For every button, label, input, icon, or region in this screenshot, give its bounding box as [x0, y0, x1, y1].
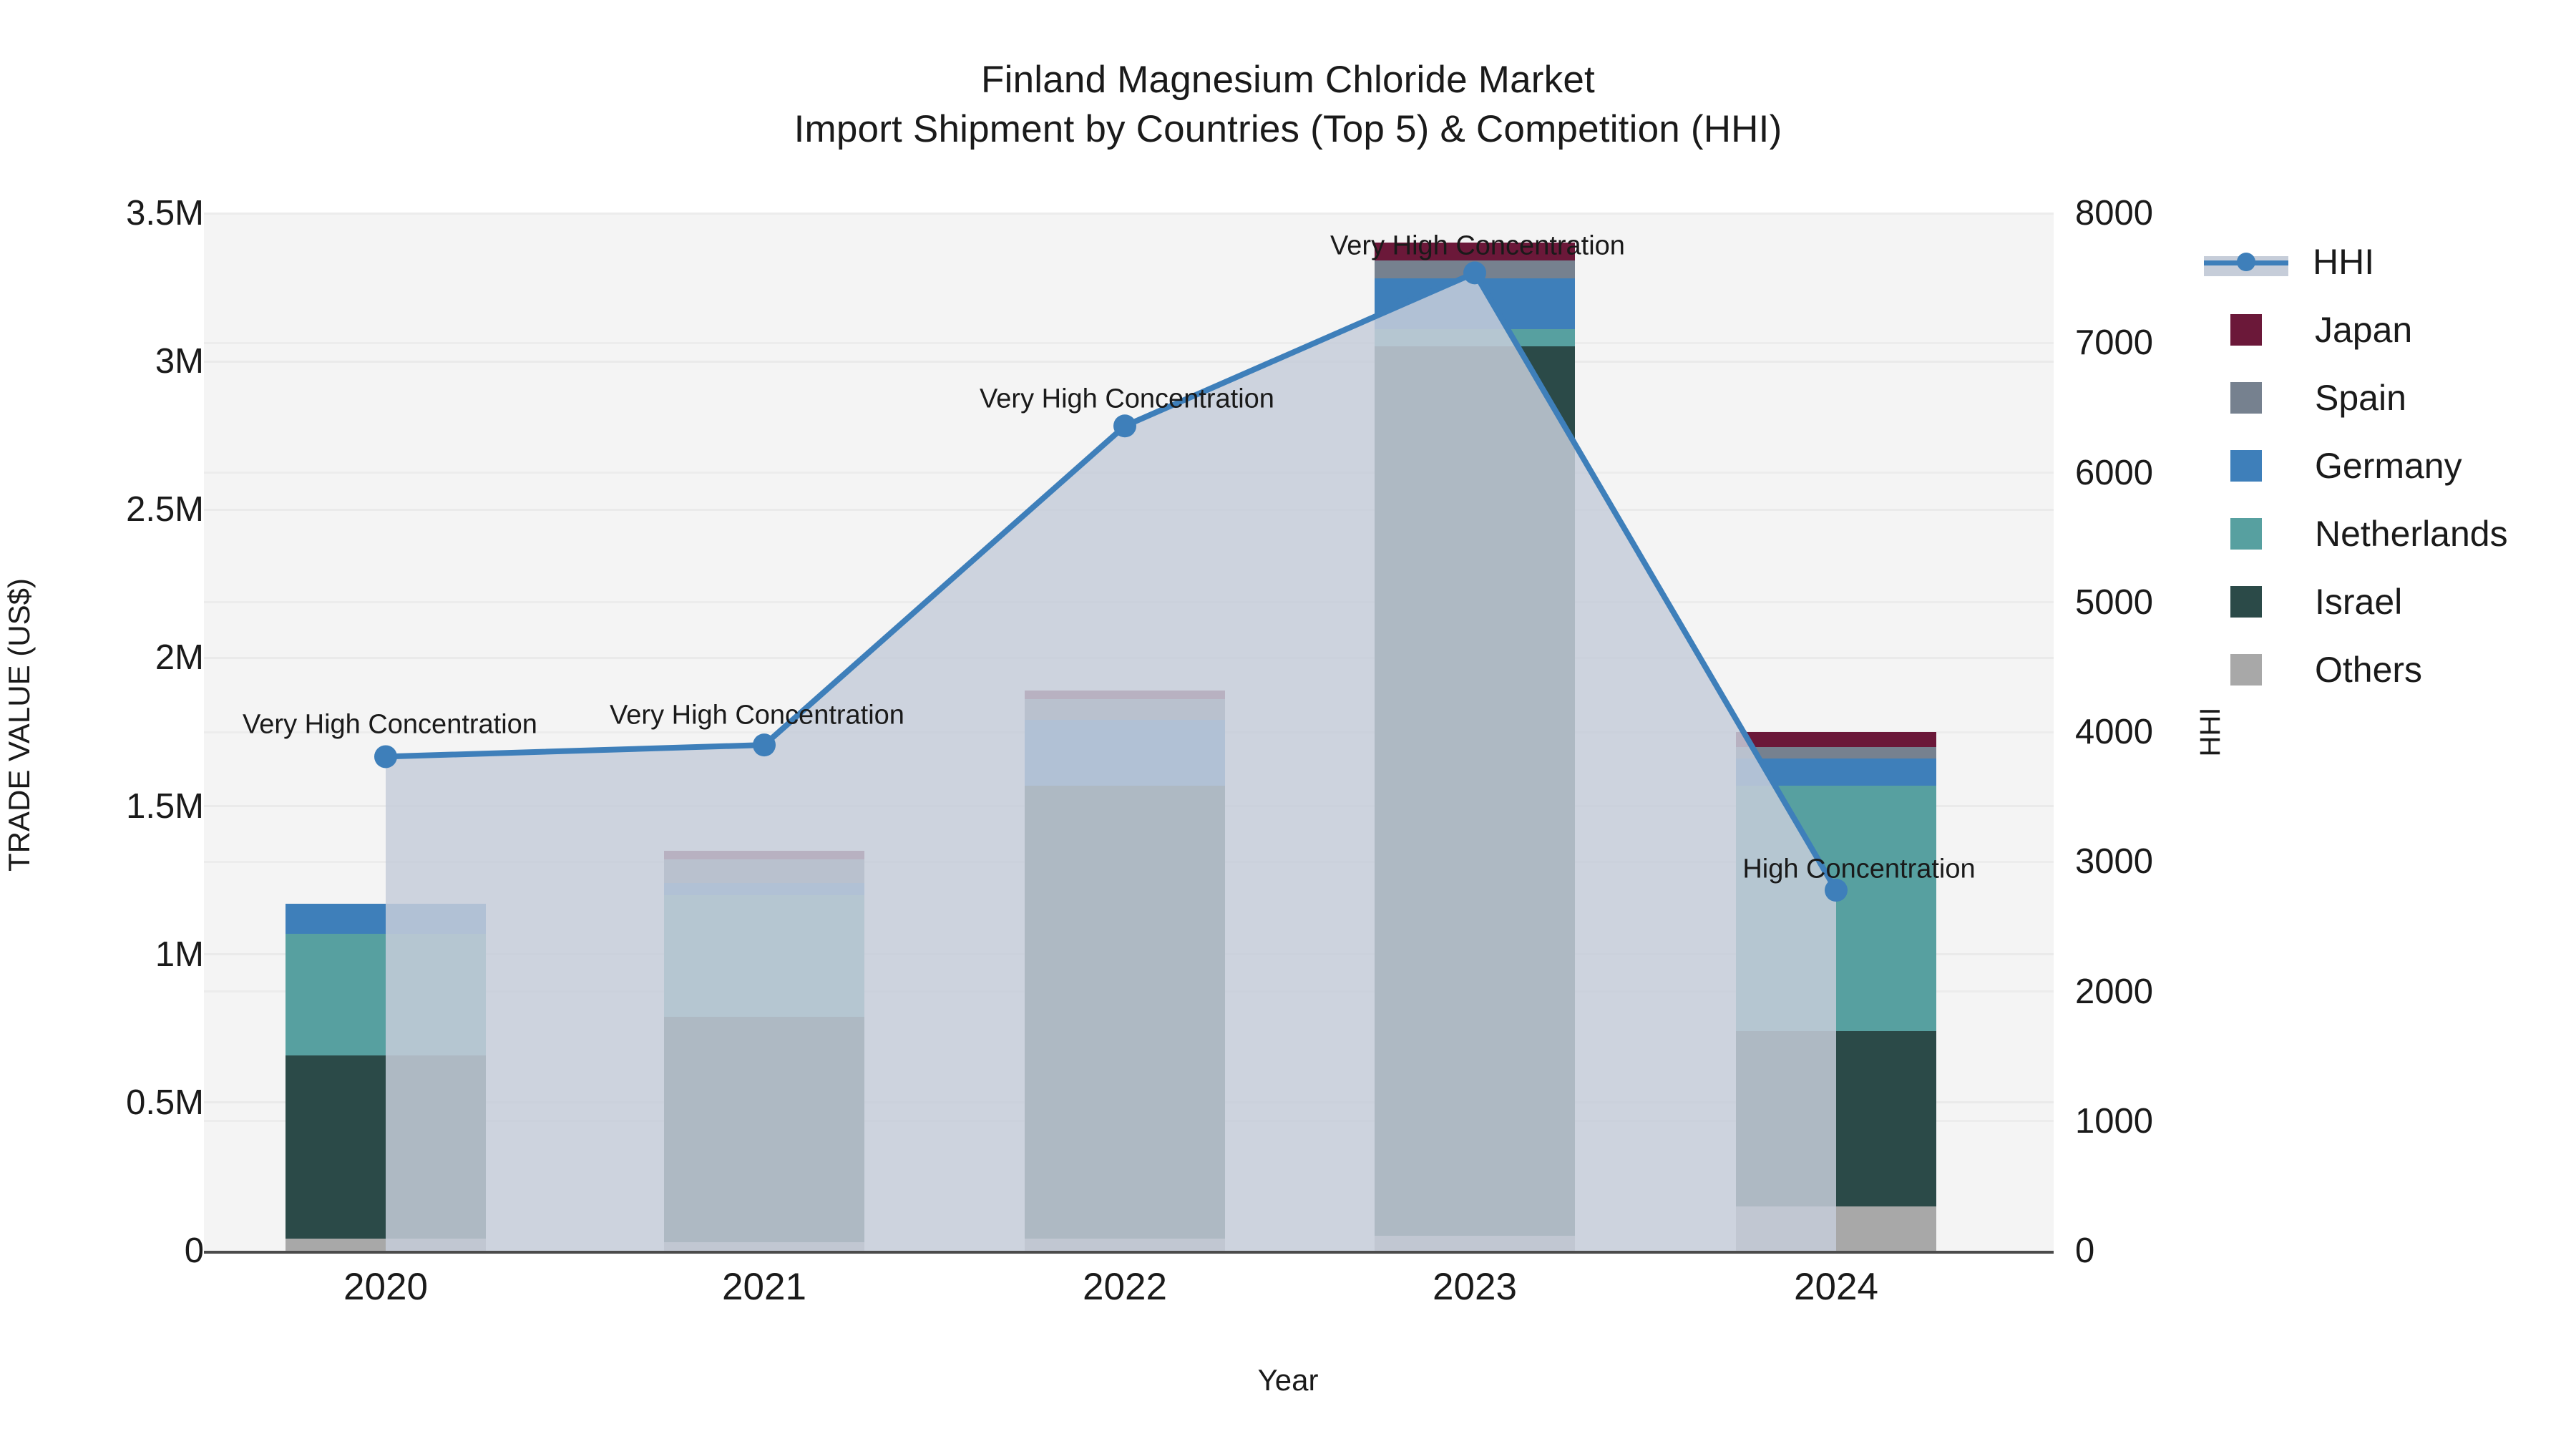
y-tick-right: 4000	[2075, 712, 2290, 752]
y-tick-left: 3M	[0, 341, 204, 381]
chart-title-line-2: Import Shipment by Countries (Top 5) & C…	[0, 105, 2576, 155]
x-tick-2024: 2024	[1707, 1265, 1965, 1309]
legend-label-japan: Japan	[2315, 309, 2412, 351]
gridline	[204, 509, 2054, 511]
bar-segment-netherlands[interactable]	[664, 895, 864, 1017]
x-tick-2020: 2020	[257, 1265, 514, 1309]
legend-swatch-spain	[2230, 382, 2262, 414]
y-tick-left: 1M	[0, 935, 204, 975]
gridline-secondary	[204, 472, 2054, 474]
bar-stack[interactable]	[1025, 691, 1225, 1251]
legend-label-germany: Germany	[2315, 445, 2462, 487]
y-axis-right-label: HHI	[2195, 708, 2227, 757]
y-tick-left: 0.5M	[0, 1083, 204, 1123]
gridline	[204, 361, 2054, 363]
legend-item-netherlands[interactable]: Netherlands	[2204, 499, 2576, 567]
concentration-annotation-2022: Very High Concentration	[980, 384, 1274, 415]
legend-swatch-japan	[2230, 314, 2262, 346]
bar-segment-spain[interactable]	[1736, 747, 1936, 759]
legend-line-marker	[2204, 246, 2288, 278]
chart-legend: HHIJapanSpainGermanyNetherlandsIsraelOth…	[2204, 228, 2576, 703]
bar-segment-others[interactable]	[1736, 1206, 1936, 1251]
legend-label-hhi: HHI	[2313, 241, 2374, 283]
bar-segment-netherlands[interactable]	[1375, 329, 1575, 347]
legend-label-spain: Spain	[2315, 377, 2406, 419]
bar-segment-others[interactable]	[1375, 1236, 1575, 1251]
bar-segment-israel[interactable]	[664, 1017, 864, 1242]
y-tick-left: 3.5M	[0, 193, 204, 233]
x-tick-2023: 2023	[1346, 1265, 1604, 1309]
concentration-annotation-2023: Very High Concentration	[1330, 231, 1625, 262]
x-tick-2022: 2022	[996, 1265, 1254, 1309]
bar-segment-germany[interactable]	[664, 883, 864, 895]
bar-segment-spain[interactable]	[664, 859, 864, 883]
legend-item-hhi[interactable]: HHI	[2204, 228, 2576, 296]
bar-segment-others[interactable]	[664, 1242, 864, 1251]
legend-item-others[interactable]: Others	[2204, 635, 2576, 703]
bar-segment-israel[interactable]	[1375, 346, 1575, 1236]
bar-segment-israel[interactable]	[1025, 786, 1225, 1239]
bar-segment-germany[interactable]	[1375, 278, 1575, 328]
legend-label-israel: Israel	[2315, 581, 2402, 623]
bar-segment-germany[interactable]	[286, 904, 486, 933]
bar-segment-japan[interactable]	[1736, 732, 1936, 747]
x-tick-2021: 2021	[635, 1265, 893, 1309]
bar-stack[interactable]	[1736, 732, 1936, 1251]
gridline-secondary	[204, 213, 2054, 215]
bar-segment-japan[interactable]	[1025, 691, 1225, 699]
legend-swatch-others	[2230, 654, 2262, 686]
y-tick-right: 3000	[2075, 841, 2290, 882]
y-tick-left: 2.5M	[0, 489, 204, 530]
bar-segment-others[interactable]	[286, 1239, 486, 1251]
chart-title: Finland Magnesium Chloride Market Import…	[0, 56, 2576, 155]
concentration-annotation-2021: Very High Concentration	[610, 701, 904, 731]
legend-label-others: Others	[2315, 649, 2422, 691]
x-axis-line	[204, 1251, 2054, 1254]
legend-swatch-germany	[2230, 450, 2262, 482]
legend-swatch-israel	[2230, 586, 2262, 618]
legend-item-israel[interactable]: Israel	[2204, 567, 2576, 635]
legend-line-dot	[2237, 253, 2255, 271]
bar-stack[interactable]	[664, 851, 864, 1251]
y-tick-right: 1000	[2075, 1101, 2290, 1141]
legend-item-japan[interactable]: Japan	[2204, 296, 2576, 364]
bar-segment-netherlands[interactable]	[286, 934, 486, 1055]
y-tick-right: 0	[2075, 1231, 2290, 1271]
concentration-annotation-2020: Very High Concentration	[243, 710, 537, 741]
legend-item-germany[interactable]: Germany	[2204, 431, 2576, 499]
y-tick-right: 2000	[2075, 972, 2290, 1012]
bar-segment-israel[interactable]	[286, 1055, 486, 1239]
bar-segment-japan[interactable]	[664, 851, 864, 859]
chart-title-line-1: Finland Magnesium Chloride Market	[0, 56, 2576, 105]
bar-segment-israel[interactable]	[1736, 1031, 1936, 1206]
y-axis-left-label: TRADE VALUE (US$)	[2, 578, 36, 872]
bar-segment-spain[interactable]	[1375, 260, 1575, 278]
bar-stack[interactable]	[1375, 243, 1575, 1251]
bar-segment-germany[interactable]	[1736, 758, 1936, 785]
gridline	[204, 657, 2054, 659]
legend-item-spain[interactable]: Spain	[2204, 364, 2576, 431]
bar-segment-others[interactable]	[1025, 1239, 1225, 1251]
legend-swatch-netherlands	[2230, 518, 2262, 550]
gridline-secondary	[204, 601, 2054, 603]
bar-segment-spain[interactable]	[1025, 699, 1225, 720]
concentration-annotation-2024: High Concentration	[1742, 854, 1975, 885]
bar-stack[interactable]	[286, 904, 486, 1251]
bar-segment-netherlands[interactable]	[1736, 786, 1936, 1032]
bar-segment-germany[interactable]	[1025, 720, 1225, 785]
chart-figure: Finland Magnesium Chloride Market Import…	[0, 0, 2576, 1449]
gridline-secondary	[204, 342, 2054, 344]
x-axis-label: Year	[0, 1363, 2576, 1397]
y-tick-left: 0	[0, 1231, 204, 1271]
legend-label-netherlands: Netherlands	[2315, 513, 2508, 555]
